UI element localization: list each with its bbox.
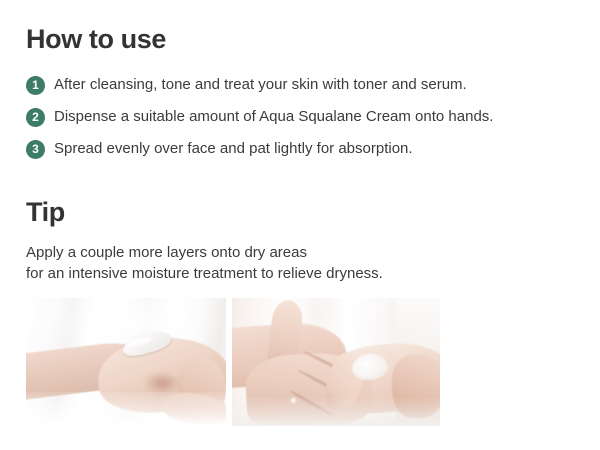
step-number-badge: 3 [26,140,45,159]
list-item: 3 Spread evenly over face and pat lightl… [26,133,493,165]
step-text: After cleansing, tone and treat your ski… [54,76,467,94]
tip-heading: Tip [26,199,65,226]
hand-shadow [144,372,180,394]
product-usage-panel: How to use 1 After cleansing, tone and t… [0,0,600,450]
list-item: 1 After cleansing, tone and treat your s… [26,69,493,101]
photo-spreading-cream-with-fingers [232,298,440,426]
tip-line: Apply a couple more layers onto dry area… [26,242,383,263]
step-number-badge: 2 [26,108,45,127]
list-item: 2 Dispense a suitable amount of Aqua Squ… [26,101,493,133]
how-to-use-step-list: 1 After cleansing, tone and treat your s… [26,69,493,165]
tip-body: Apply a couple more layers onto dry area… [26,242,383,284]
how-to-use-heading: How to use [26,26,166,53]
photo-haze [232,396,440,426]
step-number-badge: 1 [26,76,45,95]
usage-photo-strip [26,298,440,426]
tip-line: for an intensive moisture treatment to r… [26,263,383,284]
step-text: Dispense a suitable amount of Aqua Squal… [54,108,493,126]
photo-haze [26,392,226,426]
step-text: Spread evenly over face and pat lightly … [54,140,413,158]
photo-applying-cream-to-back-of-hand [26,298,226,426]
